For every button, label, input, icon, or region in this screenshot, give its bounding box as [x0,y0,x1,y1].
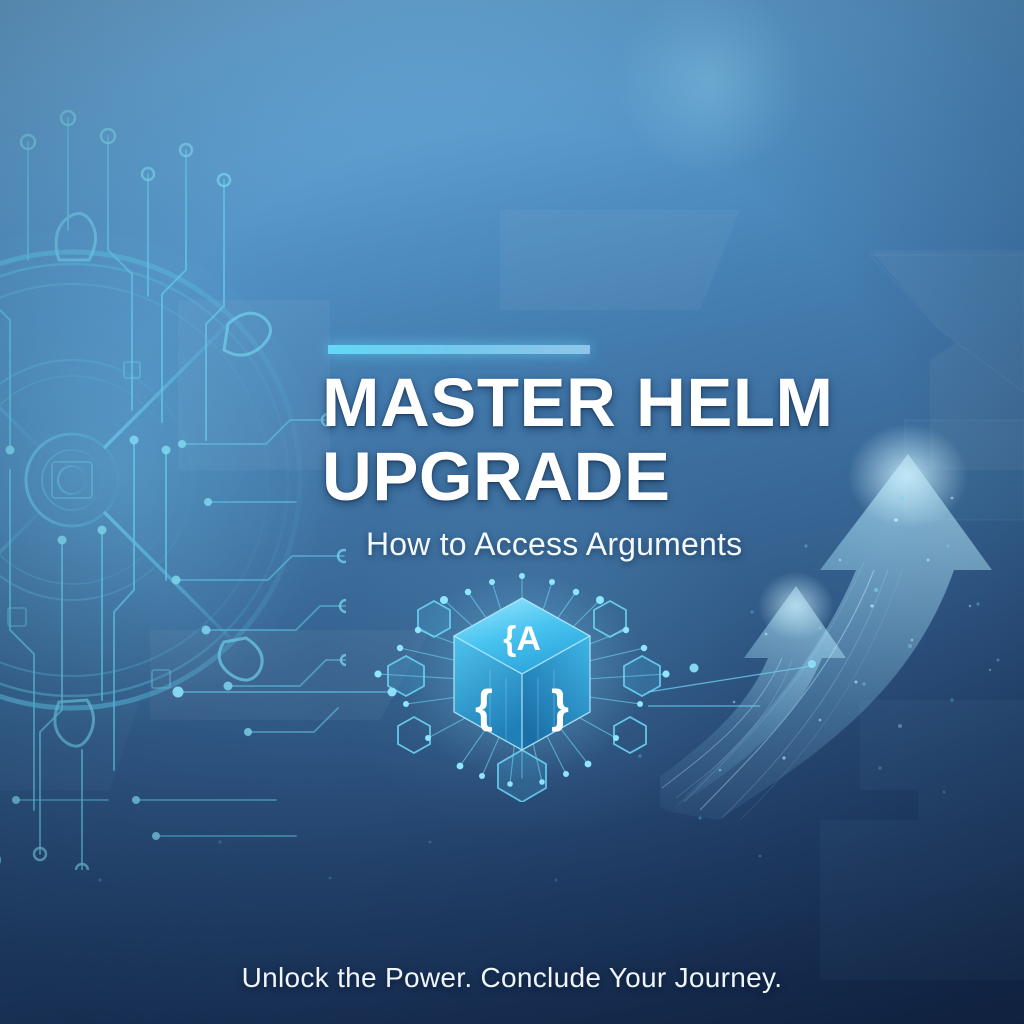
title-accent-bar [328,345,590,354]
footer-tagline: Unlock the Power. Conclude Your Journey. [0,962,1024,994]
ambient-glow-top [615,0,805,170]
title-block: MASTER HELM UPGRADE [322,366,942,514]
circuit-helm-emblem [0,110,346,870]
page-title-line-2: UPGRADE [322,440,942,514]
page-subtitle: How to Access Arguments [366,526,742,563]
cube-connector-lines [0,640,1024,750]
poster-canvas: {A { } [0,0,1024,1024]
page-title-line-1: MASTER HELM [322,366,942,440]
